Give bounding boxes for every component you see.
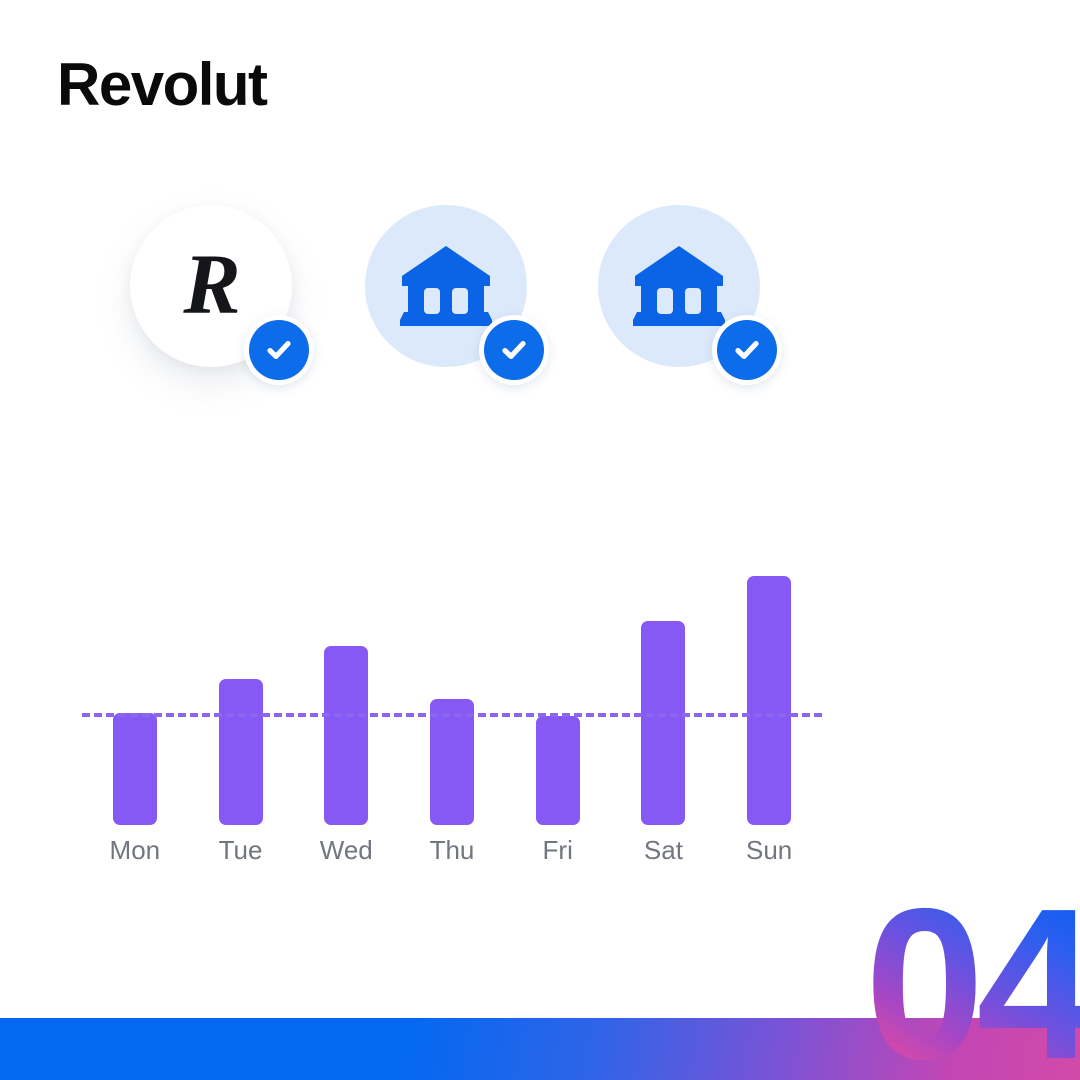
account-badge-bank-1[interactable]: [365, 205, 527, 367]
revolut-r-logo-icon: R: [183, 241, 238, 327]
chart-x-label: Fri: [513, 837, 603, 863]
bank-icon: [398, 242, 494, 330]
check-icon: [497, 333, 531, 367]
check-badge-disc: [249, 320, 309, 380]
weekly-spending-chart: MonTueWedThuFriSatSun: [82, 545, 822, 885]
chart-x-label: Sun: [724, 837, 814, 863]
account-badge-revolut[interactable]: R: [130, 205, 292, 367]
bank-icon: [631, 242, 727, 330]
check-badge-disc: [717, 320, 777, 380]
verified-check-badge: [244, 315, 314, 385]
account-badge-bank-2[interactable]: [598, 205, 760, 367]
chart-bar[interactable]: [430, 699, 474, 825]
check-icon: [730, 333, 764, 367]
chart-bar[interactable]: [641, 621, 685, 825]
verified-check-badge: [479, 315, 549, 385]
chart-bar[interactable]: [536, 716, 580, 825]
verified-check-badge: [712, 315, 782, 385]
chart-x-axis-labels: MonTueWedThuFriSatSun: [82, 837, 822, 877]
chart-bar[interactable]: [324, 646, 368, 825]
chart-bar[interactable]: [219, 679, 263, 825]
slide-canvas: Revolut R: [0, 0, 1080, 1080]
check-badge-disc: [484, 320, 544, 380]
chart-plot-area: [82, 545, 822, 825]
verified-accounts-row: R: [0, 0, 1080, 470]
chart-x-label: Thu: [407, 837, 497, 863]
chart-bar[interactable]: [747, 576, 791, 825]
chart-x-label: Tue: [196, 837, 286, 863]
chart-x-label: Wed: [301, 837, 391, 863]
chart-x-label: Mon: [90, 837, 180, 863]
chart-x-label: Sat: [618, 837, 708, 863]
step-number: 04: [865, 896, 1080, 1072]
check-icon: [262, 333, 296, 367]
chart-bar[interactable]: [113, 713, 157, 825]
